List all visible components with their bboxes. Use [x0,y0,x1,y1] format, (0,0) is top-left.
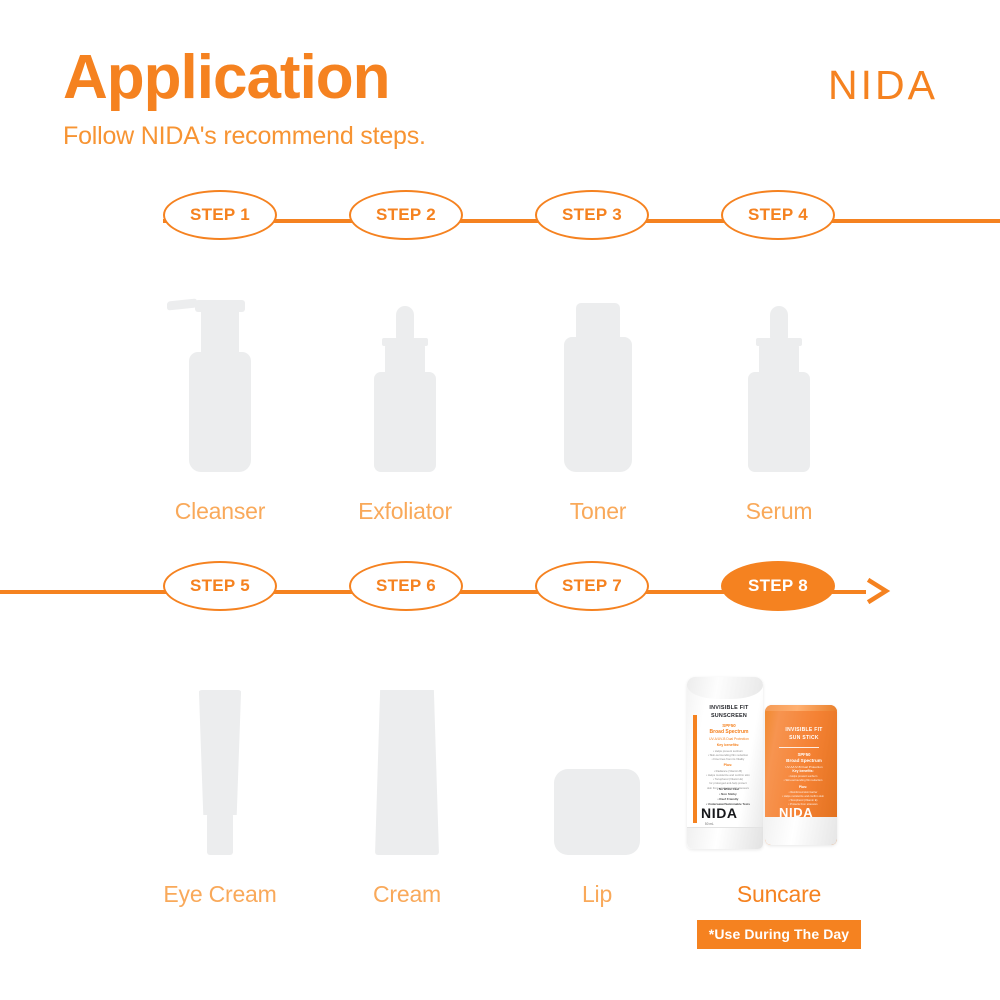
sunscreen-tube-benefits: Key benefits: • Helps prevent sunburn • … [701,743,755,761]
sun-stick: INVISIBLE FIT SUN STICK SPF50 Broad Spec… [765,705,837,845]
product-exfoliator: Exfoliator [295,272,515,525]
timeline-row-1: STEP 1 STEP 2 STEP 3 STEP 4 [0,190,1000,250]
cream-tube-icon [297,655,517,855]
product-serum: Serum [669,272,889,525]
arrow-right-icon [866,577,892,605]
sunscreen-tube-title: INVISIBLE FIT SUNSCREEN [701,704,757,720]
timeline-row-2: STEP 5 STEP 6 STEP 7 STEP 8 [0,561,1000,621]
product-label: Suncare [669,881,889,908]
product-suncare: INVISIBLE FIT SUNSCREEN SPF50 Broad Spec… [669,655,889,949]
step-pill-2[interactable]: STEP 2 [349,190,463,240]
sun-stick-benefits: Key benefits: • Helps prevent sunburn • … [779,769,827,783]
dropper-bottle-icon [295,272,515,472]
sun-stick-title: INVISIBLE FIT SUN STICK [779,727,829,743]
dropper-bottle-icon [669,272,889,472]
product-label: Cream [297,881,517,908]
product-label: Exfoliator [295,498,515,525]
page-subtitle: Follow NIDA's recommend steps. [63,122,426,151]
step-pill-5[interactable]: STEP 5 [163,561,277,611]
step-pill-7[interactable]: STEP 7 [535,561,649,611]
sunscreen-tube-spf: SPF50 Broad Spectrum UV-A/UV-B Dual Prot… [701,723,757,741]
step-pill-1[interactable]: STEP 1 [163,190,277,240]
suncare-product-photo: INVISIBLE FIT SUNSCREEN SPF50 Broad Spec… [669,655,889,855]
step-pill-8[interactable]: STEP 8 [721,561,835,611]
sun-stick-spf: SPF50 Broad Spectrum UV-A/UV-B Dual Prot… [779,752,829,769]
sunscreen-tube: INVISIBLE FIT SUNSCREEN SPF50 Broad Spec… [687,677,763,849]
step-pill-6[interactable]: STEP 6 [349,561,463,611]
application-infographic: Application Follow NIDA's recommend step… [0,0,1000,1000]
sunscreen-tube-brand: NIDA [701,805,738,821]
step-pill-4[interactable]: STEP 4 [721,190,835,240]
status-badge: *Use During The Day [697,920,861,949]
step-pill-3[interactable]: STEP 3 [535,190,649,240]
page-title: Application [63,45,426,110]
product-cream: Cream [297,655,517,908]
header: Application Follow NIDA's recommend step… [63,45,426,151]
brand-logo: NIDA [828,62,938,109]
product-label: Serum [669,498,889,525]
